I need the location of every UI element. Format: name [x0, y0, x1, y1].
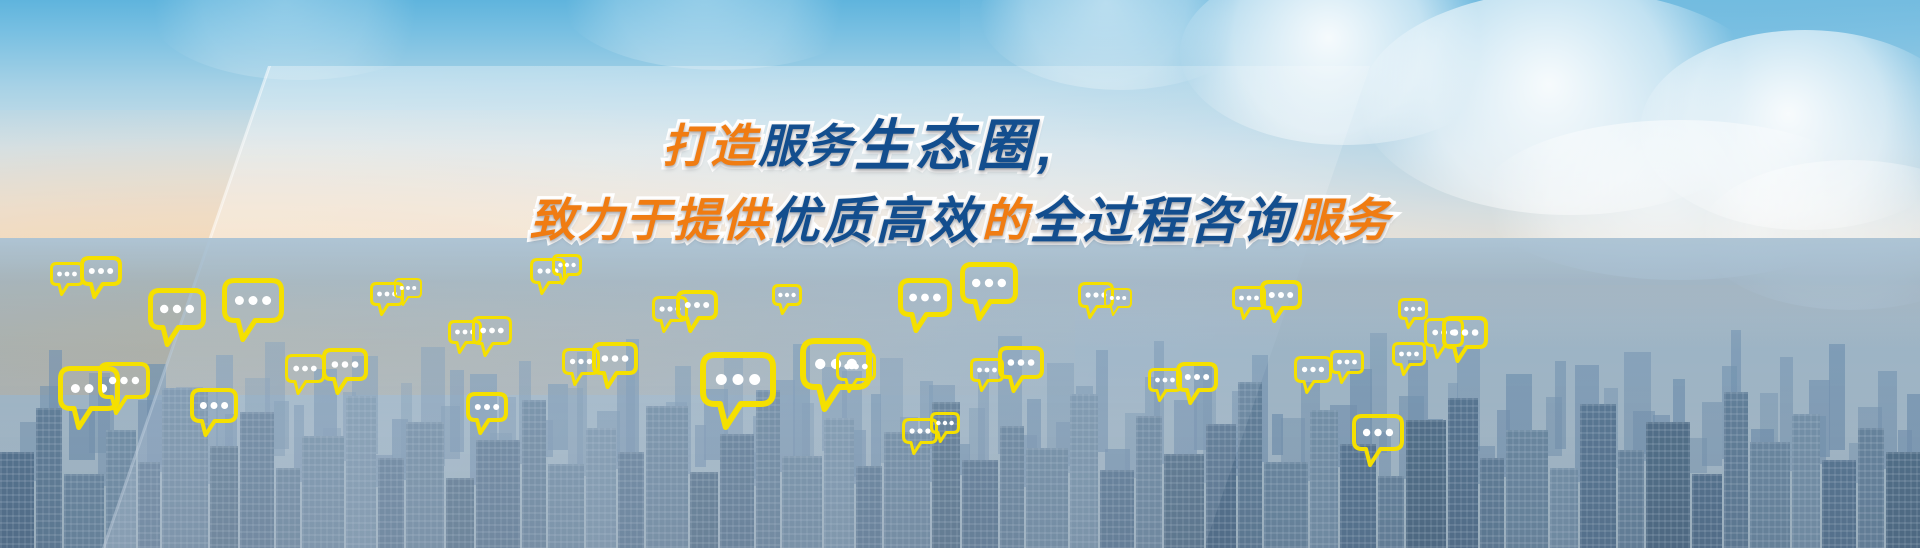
building — [0, 452, 34, 548]
speech-bubble-icon — [676, 290, 718, 333]
speech-bubble-icon — [1294, 356, 1332, 394]
speech-bubble-icon — [222, 278, 284, 342]
building — [1136, 416, 1162, 548]
speech-bubble-icon — [148, 288, 206, 347]
building — [1448, 398, 1478, 548]
building — [962, 460, 998, 548]
headline-segment: 生态圈, — [854, 118, 1058, 174]
building — [1646, 422, 1690, 548]
building — [586, 428, 616, 548]
building — [646, 406, 688, 548]
building — [1100, 470, 1134, 548]
building — [1164, 454, 1204, 548]
speech-bubble-icon — [700, 352, 776, 430]
building — [64, 474, 104, 548]
speech-bubble-icon — [960, 262, 1018, 321]
building — [406, 422, 444, 548]
speech-bubble-icon — [190, 388, 238, 437]
building — [1506, 430, 1548, 548]
headline-line-1: 打造服务生态圈, — [0, 118, 1920, 174]
headline-segment: 打造 — [662, 123, 758, 169]
building — [240, 412, 274, 548]
headline-line-2: 致力于提供优质高效的全过程咨询服务 — [0, 196, 1920, 246]
speech-bubble-icon — [472, 316, 512, 357]
building — [1406, 420, 1446, 548]
building — [720, 434, 754, 548]
speech-bubble-icon — [1176, 362, 1218, 405]
headline-block: 打造服务生态圈, 致力于提供优质高效的全过程咨询服务 — [0, 118, 1920, 246]
speech-bubble-icon — [394, 278, 422, 306]
speech-bubble-icon — [1104, 288, 1132, 316]
speech-bubble-icon — [50, 262, 84, 296]
speech-bubble-icon — [466, 392, 508, 435]
speech-bubble-icon — [1330, 350, 1364, 384]
building — [476, 440, 520, 548]
building — [1858, 428, 1884, 548]
building — [1792, 414, 1820, 548]
building-far — [1829, 344, 1845, 450]
speech-bubble-icon — [930, 412, 960, 443]
building — [856, 466, 882, 548]
speech-bubble-icon — [1352, 414, 1404, 467]
building — [824, 418, 854, 548]
building — [1070, 394, 1098, 548]
speech-bubble-icon — [552, 254, 582, 285]
building — [1310, 410, 1338, 548]
speech-bubble-icon — [592, 342, 638, 389]
building-far — [969, 408, 985, 468]
building — [1238, 382, 1262, 548]
building — [1000, 426, 1024, 548]
building — [548, 464, 584, 548]
speech-bubble-icon — [898, 278, 952, 333]
speech-bubble-icon — [322, 348, 368, 395]
speech-bubble-icon — [772, 284, 802, 315]
building — [1750, 442, 1790, 548]
building — [618, 452, 644, 548]
speech-bubble-icon — [98, 362, 150, 415]
building-far — [1174, 400, 1197, 457]
building — [1480, 458, 1504, 548]
hero-banner: 打造服务生态圈, 致力于提供优质高效的全过程咨询服务 — [0, 0, 1920, 548]
speech-bubble-icon — [1442, 316, 1488, 363]
headline-segment: 服务 — [758, 123, 854, 169]
building — [1206, 424, 1236, 548]
building — [276, 468, 300, 548]
building — [106, 430, 136, 548]
building — [1580, 404, 1616, 548]
building — [1264, 462, 1308, 548]
headline-segment: 优质高效 — [770, 196, 982, 246]
speech-bubble-icon — [1260, 280, 1302, 323]
building — [446, 478, 474, 548]
speech-bubble-icon — [80, 256, 122, 299]
building — [522, 400, 546, 548]
speech-bubble-icon — [998, 346, 1044, 393]
building — [1550, 468, 1578, 548]
building — [346, 396, 376, 548]
building — [1378, 476, 1404, 548]
speech-bubble-icon — [1392, 342, 1426, 376]
speech-bubble-icon — [285, 354, 325, 395]
building — [1692, 474, 1722, 548]
building — [690, 472, 718, 548]
building-far — [695, 425, 706, 467]
headline-segment: 服务 — [1295, 197, 1391, 243]
building — [378, 458, 404, 548]
building-far — [871, 394, 881, 470]
building — [1618, 450, 1644, 548]
building — [1026, 448, 1068, 548]
headline-segment: 致力于提供 — [530, 197, 770, 243]
building-far — [1272, 414, 1283, 455]
building — [782, 456, 822, 548]
headline-segment: 全过程咨询 — [1030, 196, 1295, 246]
building — [1886, 452, 1920, 548]
headline-segment: 的 — [982, 197, 1030, 243]
building-far — [1546, 397, 1562, 456]
building — [1724, 392, 1748, 548]
speech-bubble-icon — [836, 352, 876, 393]
building — [302, 436, 344, 548]
building — [210, 446, 238, 548]
building — [138, 462, 160, 548]
building — [1822, 460, 1856, 548]
